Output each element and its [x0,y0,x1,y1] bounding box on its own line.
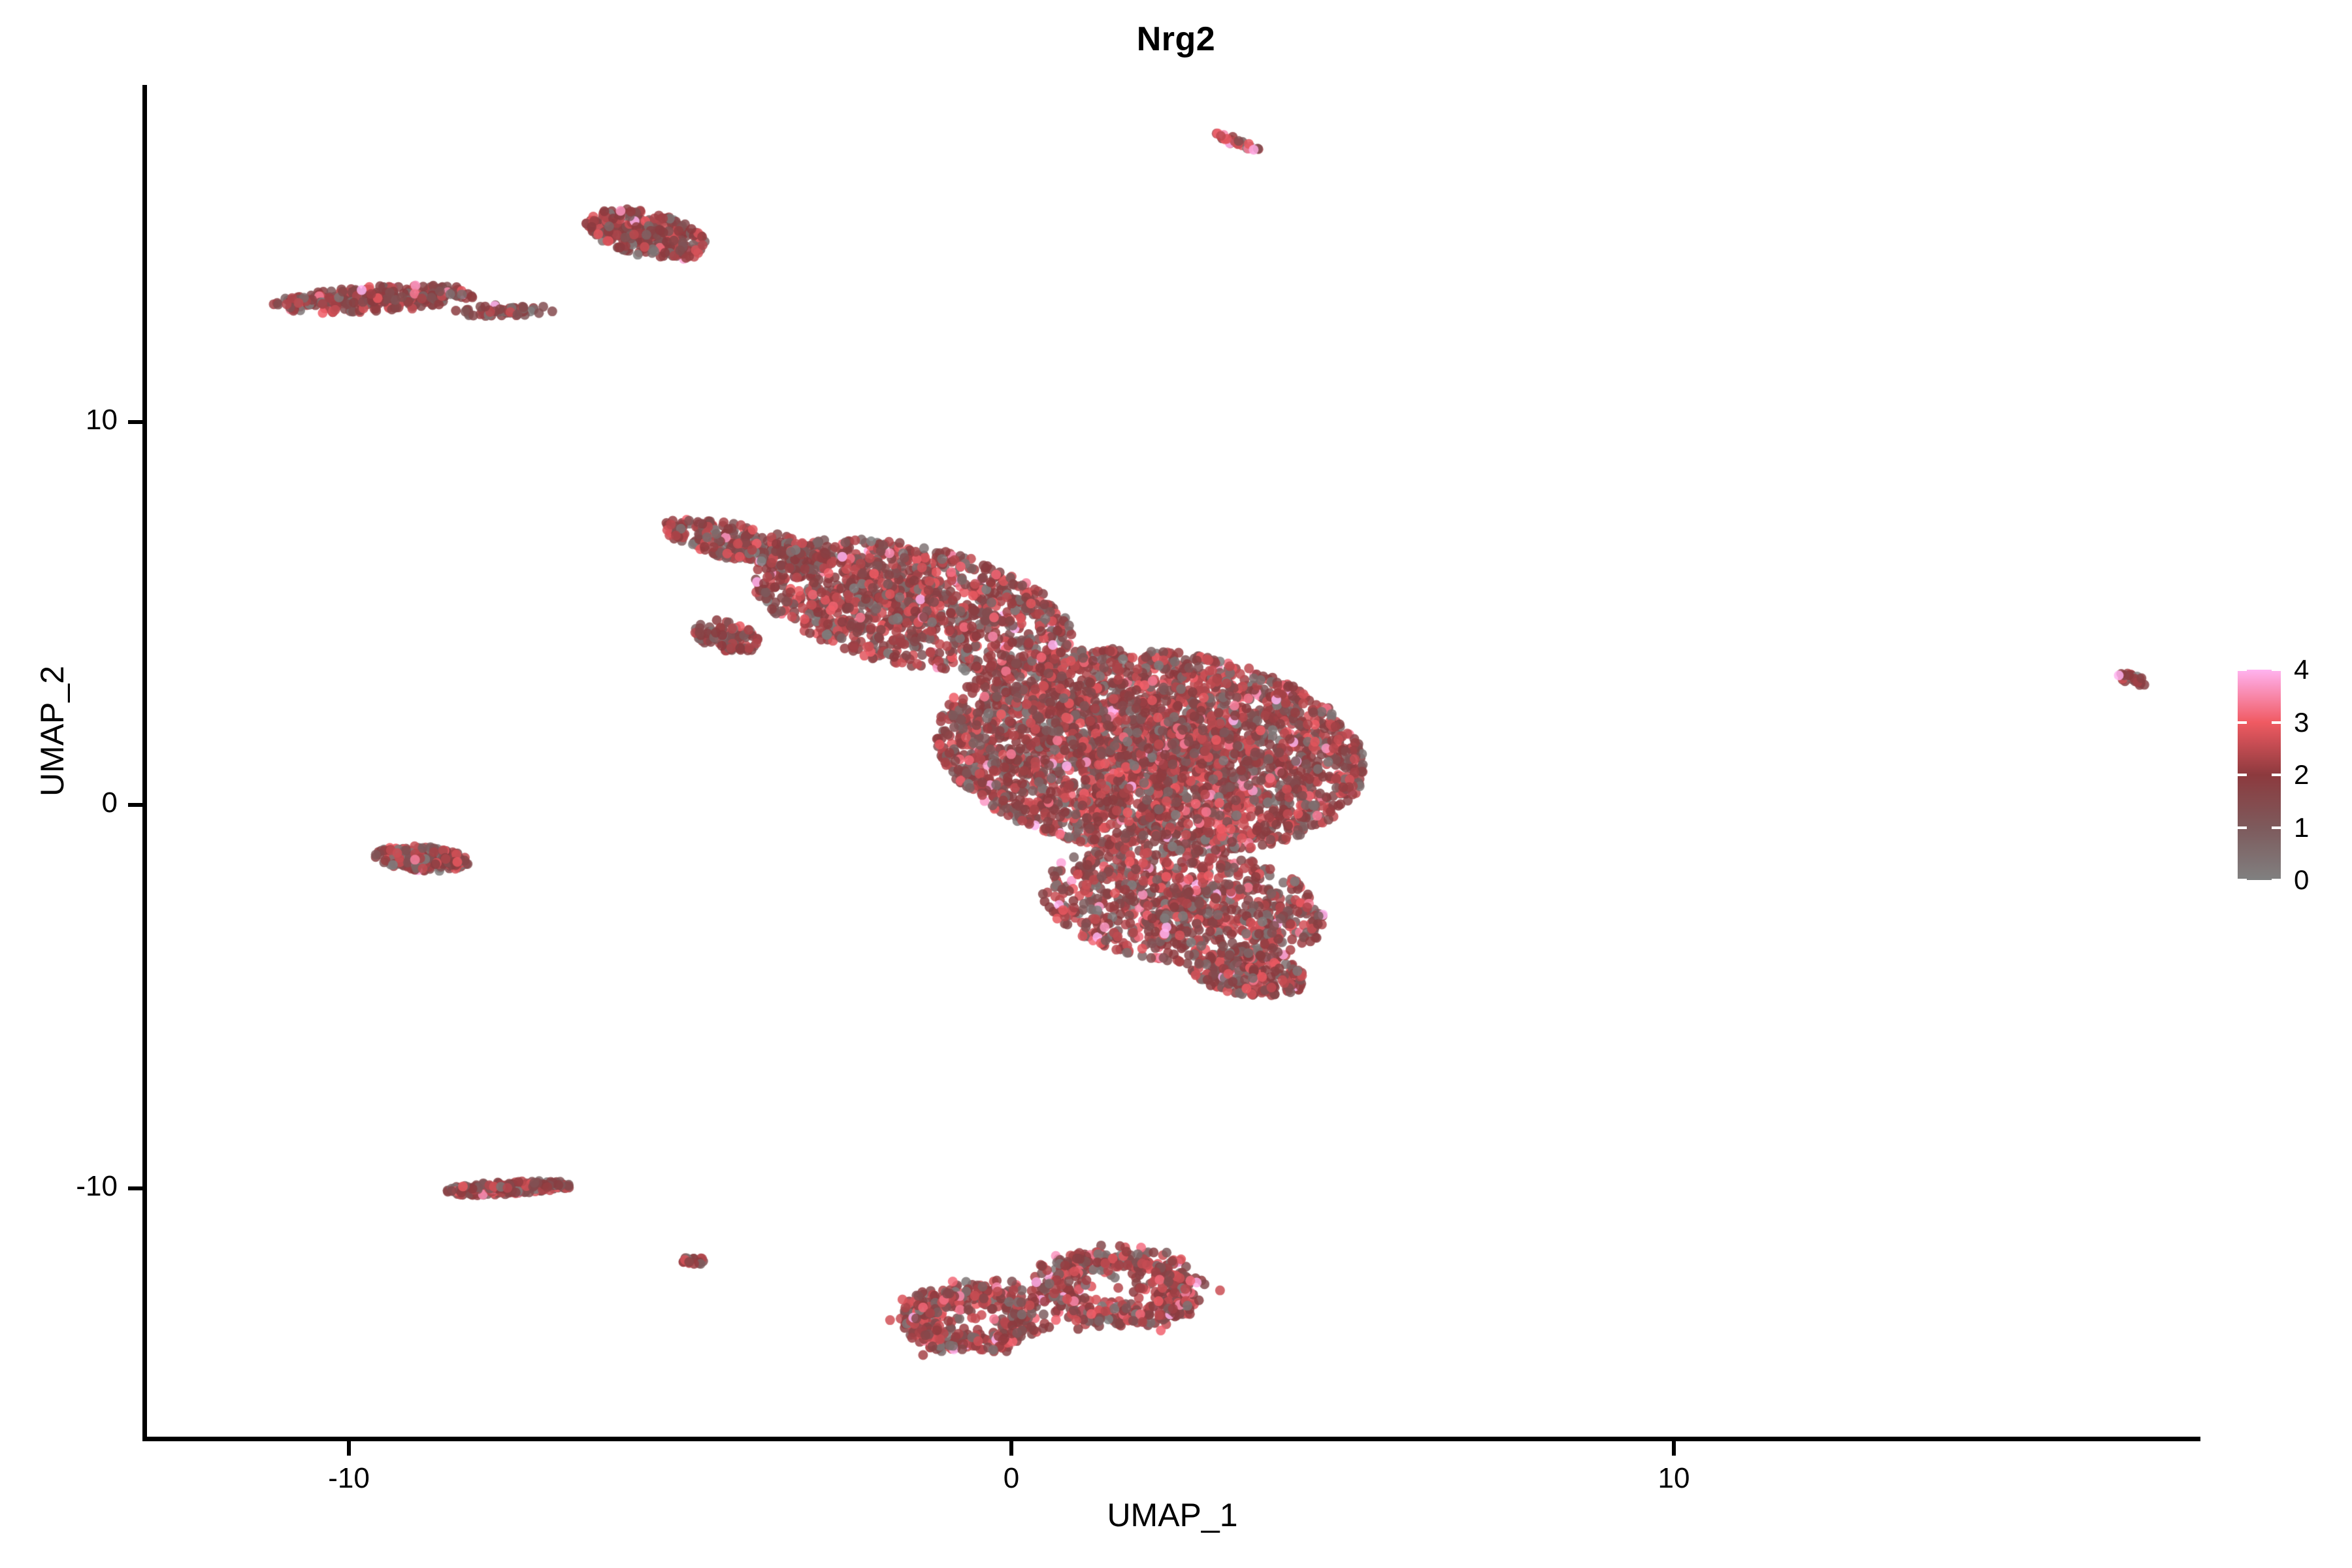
y-tick-label: -10 [0,1170,118,1203]
colorbar-tick-mark [2272,668,2281,671]
y-axis-title: UMAP_2 [33,502,71,960]
x-tick-mark [347,1441,351,1456]
plot-panel [145,85,2200,1439]
colorbar-tick-mark [2238,774,2247,776]
x-tick-label: 0 [946,1462,1077,1495]
colorbar-tick-label: 1 [2294,814,2309,841]
colorbar-tick-label: 0 [2294,866,2309,894]
page-title: Nrg2 [0,20,2352,59]
y-axis-line [142,85,147,1441]
x-tick-mark [1009,1441,1013,1456]
legend-colorbar: 43210 [2238,670,2336,885]
x-tick-mark [1672,1441,1676,1456]
x-axis-line [142,1437,2200,1441]
y-tick-mark [128,1186,142,1190]
x-tick-label: 10 [1609,1462,1739,1495]
colorbar-tick-mark [2238,721,2247,724]
colorbar-tick-mark [2238,668,2247,671]
y-tick-mark [128,420,142,424]
colorbar-tick-mark [2272,879,2281,881]
x-tick-label: -10 [284,1462,414,1495]
scatter-points-layer [145,85,2200,1439]
colorbar-tick-mark [2238,826,2247,829]
y-tick-mark [128,803,142,807]
colorbar-tick-label: 2 [2294,761,2309,789]
colorbar-tick-label: 4 [2294,656,2309,683]
colorbar-tick-label: 3 [2294,709,2309,736]
colorbar-tick-mark [2272,774,2281,776]
colorbar-tick-mark [2238,879,2247,881]
x-axis-title: UMAP_1 [145,1496,2200,1534]
colorbar-tick-mark [2272,721,2281,724]
umap-feature-plot: Nrg2 100-10 -10010 UMAP_1 UMAP_2 43210 [0,0,2352,1568]
colorbar-tick-mark [2272,826,2281,829]
y-tick-label: 10 [0,404,118,436]
